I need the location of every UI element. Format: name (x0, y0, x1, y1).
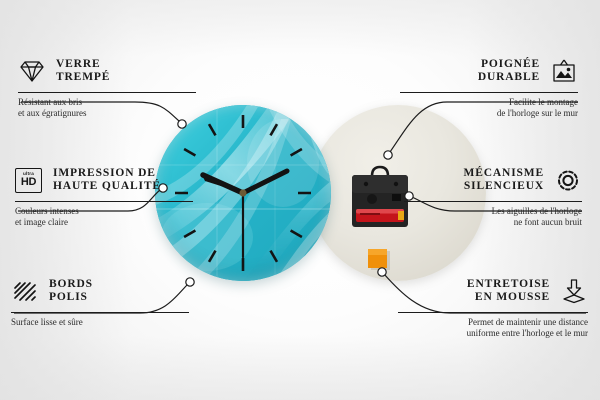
feature-description: Les aiguilles de l'horloge ne font aucun… (404, 206, 582, 228)
feature-title: POIGNÉE DURABLE (478, 58, 540, 85)
mechanism-screw (394, 182, 398, 186)
feature-bords-polis: BORDS POLIS Surface lisse et sûre (11, 274, 189, 328)
hanger-hook-icon (372, 167, 388, 176)
feature-divider (398, 312, 588, 313)
feature-description: Couleurs intenses et image claire (15, 206, 193, 228)
clock-hands (201, 171, 287, 257)
feature-divider (404, 201, 582, 202)
feature-title: VERRE TREMPÉ (56, 58, 110, 85)
feature-entretoise-en-mousse: ENTRETOISE EN MOUSSE Permet de maintenir… (398, 274, 588, 339)
polished-edges-icon (11, 277, 41, 305)
feature-header: ENTRETOISE EN MOUSSE (398, 274, 588, 308)
hour-hand-body (203, 175, 243, 193)
mechanism-top-shade (352, 175, 408, 193)
feature-title: ENTRETOISE EN MOUSSE (467, 278, 550, 305)
feature-description: Surface lisse et sûre (11, 317, 189, 328)
feature-divider (400, 92, 578, 93)
feature-title: IMPRESSION DE HAUTE QUALITÉ (53, 167, 161, 194)
hour-hand (201, 173, 243, 193)
foam-spacer-shadow (371, 251, 390, 270)
feature-description: Résistant aux bris et aux égratignures (18, 97, 196, 119)
feature-header: ultra HD IMPRESSION DE HAUTE QUALITÉ (15, 163, 193, 197)
feature-header: VERRE TREMPÉ (18, 54, 196, 88)
feature-description: Permet de maintenir une distance uniform… (398, 317, 588, 339)
feature-impression-haute-qualite: ultra HD IMPRESSION DE HAUTE QUALITÉ Cou… (15, 163, 193, 228)
leader-endpoint-verre-trempe (178, 120, 186, 128)
feature-header: POIGNÉE DURABLE (400, 54, 578, 88)
diamond-icon (18, 57, 48, 85)
infographic-canvas: VERRE TREMPÉ Résistant aux bris et aux é… (0, 0, 600, 400)
battery-highlight (356, 209, 404, 214)
ultra-hd-badge-icon: ultra HD (15, 166, 45, 194)
battery-label (360, 213, 380, 215)
ultra-hd-large-label: HD (21, 177, 36, 188)
foam-spacer (368, 249, 390, 270)
feature-divider (15, 201, 193, 202)
feature-header: BORDS POLIS (11, 274, 189, 308)
feature-mecanisme-silencieux: MÉCANISME SILENCIEUX Les aiguilles de l'… (404, 163, 582, 228)
clock-mechanism (352, 167, 408, 227)
mechanism-dial (367, 194, 377, 204)
feature-title: MÉCANISME SILENCIEUX (464, 167, 545, 194)
foam-spacer-body (368, 249, 387, 268)
mechanism-switch (392, 194, 401, 201)
gear-icon (552, 166, 582, 194)
feature-title: BORDS POLIS (49, 278, 93, 305)
foam-spacer-highlight (368, 249, 387, 255)
feature-poignee-durable: POIGNÉE DURABLE Facilite le montage de l… (400, 54, 578, 119)
wall-hanger-icon (548, 57, 578, 85)
mechanism-screw (364, 182, 368, 186)
feature-description: Facilite le montage de l'horloge sur le … (400, 97, 578, 119)
battery (356, 209, 404, 222)
feature-header: MÉCANISME SILENCIEUX (404, 163, 582, 197)
feature-divider (18, 92, 196, 93)
leader-endpoint-poignee (384, 151, 392, 159)
clock-tick-marks (175, 115, 311, 271)
clock-center-cap (239, 189, 246, 196)
mechanism-body (352, 175, 408, 227)
minute-hand (243, 171, 287, 193)
feature-verre-trempe: VERRE TREMPÉ Résistant aux bris et aux é… (18, 54, 196, 119)
foam-spacer-icon (558, 277, 588, 305)
leader-endpoint-entretoise (378, 268, 386, 276)
feature-divider (11, 312, 189, 313)
